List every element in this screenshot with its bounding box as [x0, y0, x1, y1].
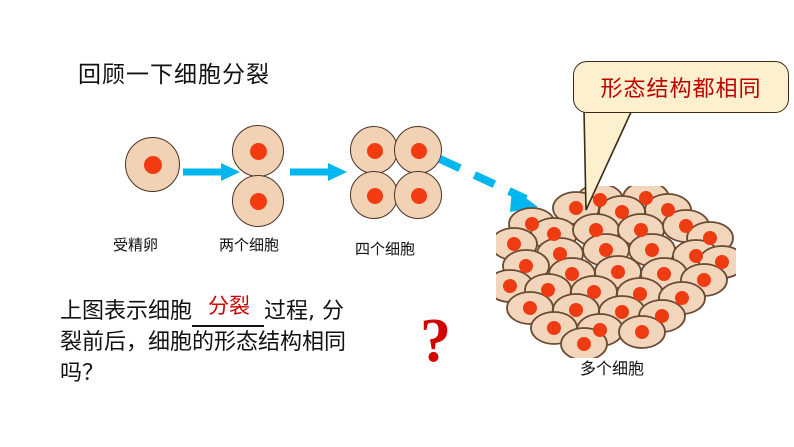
stage-label-zygote: 受精卵 — [113, 234, 158, 255]
page-title: 回顾一下细胞分裂 — [78, 55, 270, 89]
callout-box: 形态结构都相同 — [573, 61, 789, 113]
cell-four-br — [394, 171, 442, 219]
nucleus-icon — [411, 188, 427, 204]
arrow-1 — [183, 160, 241, 184]
question-line1-prefix: 上图表示细胞 — [60, 299, 192, 324]
answer-word: 分裂 — [194, 291, 264, 322]
stage-label-four-cells: 四个细胞 — [355, 238, 415, 259]
cell-four-tr — [394, 126, 442, 174]
question-line2: 裂前后，细胞的形态结构相同 — [60, 330, 346, 355]
stage-label-two-cells: 两个细胞 — [219, 234, 279, 255]
question-line1-suffix: 过程, 分 — [264, 299, 344, 324]
cell-two-bottom — [232, 175, 284, 227]
question-line3: 吗？ — [60, 361, 104, 386]
cell-zygote — [125, 137, 180, 192]
nucleus-icon — [367, 143, 383, 159]
answer-blank[interactable]: 分裂 — [192, 301, 264, 327]
nucleus-icon — [144, 156, 162, 174]
cell-four-tl — [350, 126, 398, 174]
stage-label-many-cells: 多个细胞 — [580, 355, 644, 379]
callout-tail — [560, 108, 700, 216]
slide-canvas: 回顾一下细胞分裂 — [0, 0, 794, 447]
arrow-2 — [290, 160, 348, 184]
callout-label: 形态结构都相同 — [600, 71, 761, 103]
nucleus-icon — [411, 143, 427, 159]
nucleus-icon — [250, 143, 267, 160]
nucleus-icon — [367, 188, 383, 204]
cell-four-bl — [350, 171, 398, 219]
nucleus-icon — [250, 193, 267, 210]
cell-two-top — [232, 125, 284, 177]
question-block: 上图表示细胞分裂过程, 分 裂前后，细胞的形态结构相同 吗？ — [60, 296, 420, 389]
question-mark-icon: ? — [420, 310, 451, 372]
